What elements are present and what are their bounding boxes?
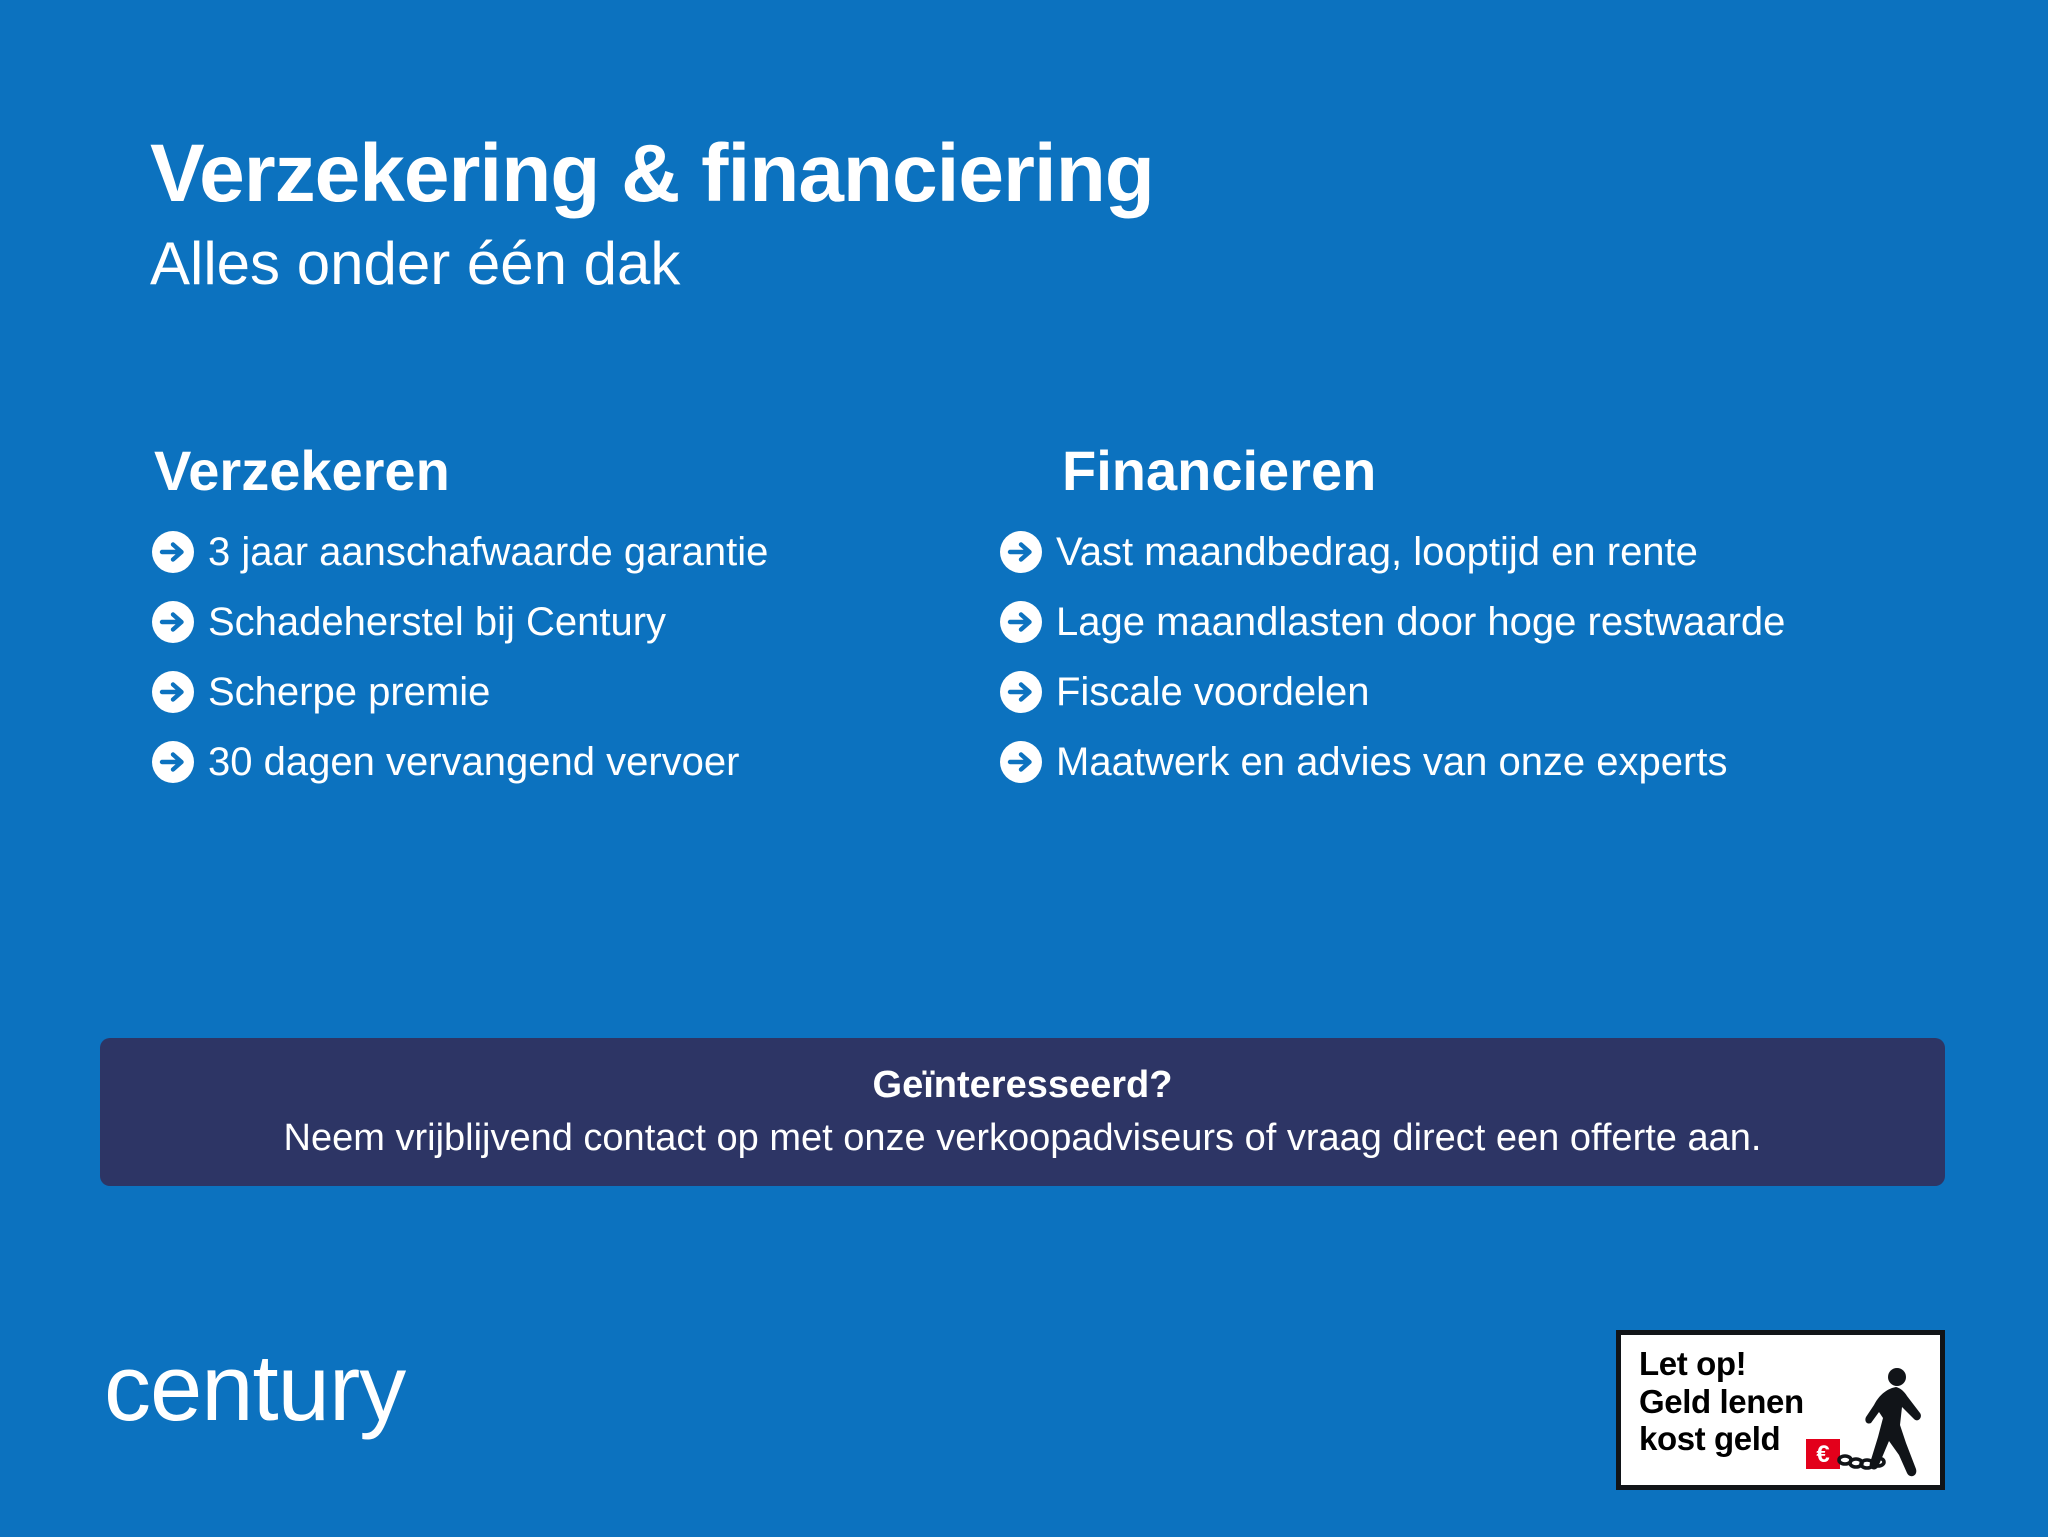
- credit-warning-line-1: Let op!: [1639, 1345, 1804, 1383]
- credit-warning-line-2: Geld lenen: [1639, 1383, 1804, 1421]
- credit-warning-inner: Let op! Geld lenen kost geld €: [1621, 1335, 1940, 1485]
- list-item-label: 3 jaar aanschafwaarde garantie: [208, 529, 768, 575]
- column-heading-verzekeren: Verzekeren: [154, 440, 1000, 502]
- list-item: Fiscale voordelen: [1000, 668, 2048, 716]
- list-item-label: Lage maandlasten door hoge restwaarde: [1056, 599, 1785, 645]
- svg-text:€: €: [1816, 1441, 1829, 1468]
- list-item-label: Scherpe premie: [208, 669, 490, 715]
- list-item: 30 dagen vervangend vervoer: [152, 738, 1000, 786]
- arrow-right-circle-icon: [152, 601, 194, 643]
- arrow-right-circle-icon: [152, 741, 194, 783]
- list-item: Lage maandlasten door hoge restwaarde: [1000, 598, 2048, 646]
- list-item: 3 jaar aanschafwaarde garantie: [152, 528, 1000, 576]
- arrow-right-circle-icon: [1000, 531, 1042, 573]
- slide-root: Verzekering & financiering Alles onder é…: [0, 0, 2048, 1537]
- arrow-right-circle-icon: [152, 671, 194, 713]
- page-subtitle: Alles onder één dak: [150, 230, 1850, 297]
- column-verzekeren: Verzekeren 3 jaar aanschafwaarde garanti…: [0, 440, 1000, 808]
- list-item-label: Fiscale voordelen: [1056, 669, 1370, 715]
- header: Verzekering & financiering Alles onder é…: [150, 132, 1850, 297]
- walking-person-with-chain-icon: €: [1804, 1363, 1934, 1481]
- arrow-right-circle-icon: [1000, 601, 1042, 643]
- arrow-right-circle-icon: [1000, 741, 1042, 783]
- list-item: Schadeherstel bij Century: [152, 598, 1000, 646]
- feature-columns: Verzekeren 3 jaar aanschafwaarde garanti…: [0, 440, 2048, 808]
- list-item: Scherpe premie: [152, 668, 1000, 716]
- list-item: Maatwerk en advies van onze experts: [1000, 738, 2048, 786]
- column-heading-financieren: Financieren: [1062, 440, 2048, 502]
- list-item: Vast maandbedrag, looptijd en rente: [1000, 528, 2048, 576]
- arrow-right-circle-icon: [152, 531, 194, 573]
- cta-heading: Geïnteresseerd?: [873, 1064, 1173, 1107]
- bullet-list-financieren: Vast maandbedrag, looptijd en rente Lage…: [1000, 528, 2048, 786]
- cta-text: Neem vrijblijvend contact op met onze ve…: [260, 1117, 1786, 1160]
- credit-warning-box: Let op! Geld lenen kost geld €: [1616, 1330, 1945, 1490]
- cta-panel: Geïnteresseerd? Neem vrijblijvend contac…: [100, 1038, 1945, 1186]
- credit-warning-line-3: kost geld: [1639, 1420, 1804, 1458]
- century-logo: century: [104, 1341, 405, 1435]
- list-item-label: Schadeherstel bij Century: [208, 599, 666, 645]
- list-item-label: Vast maandbedrag, looptijd en rente: [1056, 529, 1698, 575]
- page-title: Verzekering & financiering: [150, 132, 1850, 216]
- list-item-label: 30 dagen vervangend vervoer: [208, 739, 739, 785]
- arrow-right-circle-icon: [1000, 671, 1042, 713]
- credit-warning-text: Let op! Geld lenen kost geld: [1639, 1345, 1804, 1458]
- column-financieren: Financieren Vast maandbedrag, looptijd e…: [1000, 440, 2048, 808]
- list-item-label: Maatwerk en advies van onze experts: [1056, 739, 1727, 785]
- bullet-list-verzekeren: 3 jaar aanschafwaarde garantie Schadeher…: [152, 528, 1000, 786]
